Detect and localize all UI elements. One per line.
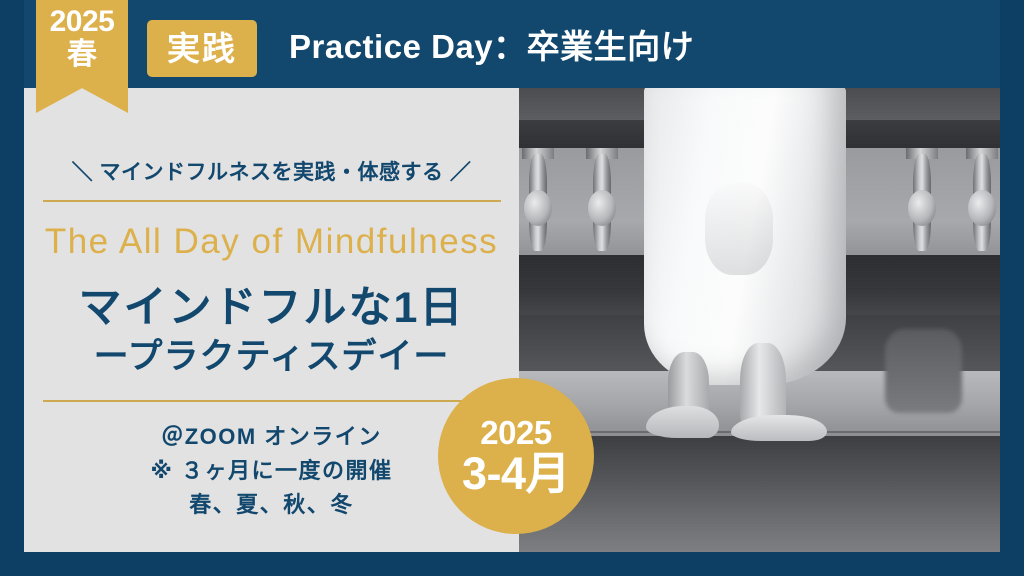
date-badge-year: 2025 <box>480 416 551 449</box>
info-line-seasons: 春、夏、秋、冬 <box>150 488 392 522</box>
japanese-title: マインドフルな1日 <box>79 284 465 333</box>
info-line-venue: ＠ZOOM オンライン <box>150 420 392 454</box>
poster-canvas: 実践 Practice Day：卒業生向け 2025 春 ＼ マインドフルネスを… <box>0 0 1024 576</box>
bare-foot-front <box>731 415 827 441</box>
walking-meditation-photo <box>519 88 1000 552</box>
header-bar: 実践 Practice Day：卒業生向け <box>24 0 1000 88</box>
divider-top <box>43 200 501 202</box>
info-block: ＠ZOOM オンライン ※ ３ヶ月に一度の開催 春、夏、秋、冬 <box>150 420 392 522</box>
white-robe <box>644 88 846 385</box>
header-title: Practice Day：卒業生向け <box>289 20 694 68</box>
info-line-cadence: ※ ３ヶ月に一度の開催 <box>150 454 392 488</box>
japanese-subtitle: ープラクティスデイー <box>94 337 450 377</box>
panel-kicker: ＼ マインドフルネスを実践・体感する ／ <box>72 156 472 186</box>
ribbon-season: 春 <box>67 38 97 71</box>
ribbon-year: 2025 <box>50 6 115 38</box>
date-badge-month: 3-4月 <box>462 451 570 496</box>
divider-bottom <box>43 400 501 402</box>
english-title: The All Day of Mindfulness <box>45 222 498 262</box>
date-badge: 2025 3-4月 <box>438 378 594 534</box>
practice-badge: 実践 <box>147 20 257 77</box>
